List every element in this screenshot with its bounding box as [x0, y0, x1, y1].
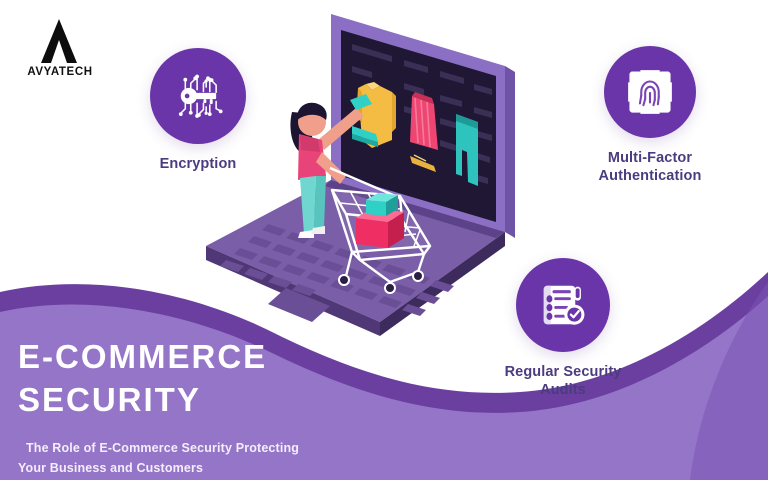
- infographic-canvas: AVYATECH: [0, 0, 768, 480]
- page-title-line2: SECURITY: [18, 381, 201, 418]
- hero-title-block: E-COMMERCE SECURITY The Role of E-Commer…: [18, 336, 438, 478]
- feature-encryption-label: Encryption: [140, 156, 256, 174]
- audit-checklist-magnifier-icon: [535, 277, 591, 333]
- feature-regular-security-audits[interactable]: Regular Security Audits: [488, 258, 638, 399]
- page-subtitle-line2: Your Business and Customers: [18, 458, 338, 478]
- feature-audits-label-line2: Audits: [540, 382, 586, 398]
- feature-encryption[interactable]: Encryption: [140, 48, 256, 174]
- feature-mfa-circle: [604, 46, 696, 138]
- page-subtitle-line1: The Role of E-Commerce Security Protecti…: [18, 438, 338, 458]
- page-subtitle: The Role of E-Commerce Security Protecti…: [18, 438, 338, 478]
- feature-audits-circle: [516, 258, 610, 352]
- fingerprint-scan-icon: [622, 64, 678, 120]
- feature-audits-label-line1: Regular Security: [505, 364, 622, 380]
- feature-multi-factor-authentication[interactable]: Multi-Factor Authentication: [570, 46, 730, 185]
- feature-audits-label: Regular Security Audits: [488, 364, 638, 399]
- feature-mfa-label: Multi-Factor Authentication: [570, 150, 730, 185]
- key-circuit-icon: [169, 67, 227, 125]
- page-title-line1: E-COMMERCE: [18, 338, 267, 375]
- feature-mfa-label-line2: Authentication: [599, 168, 702, 184]
- feature-mfa-label-line1: Multi-Factor: [608, 150, 692, 166]
- page-title: E-COMMERCE SECURITY: [18, 336, 438, 422]
- feature-encryption-circle: [150, 48, 246, 144]
